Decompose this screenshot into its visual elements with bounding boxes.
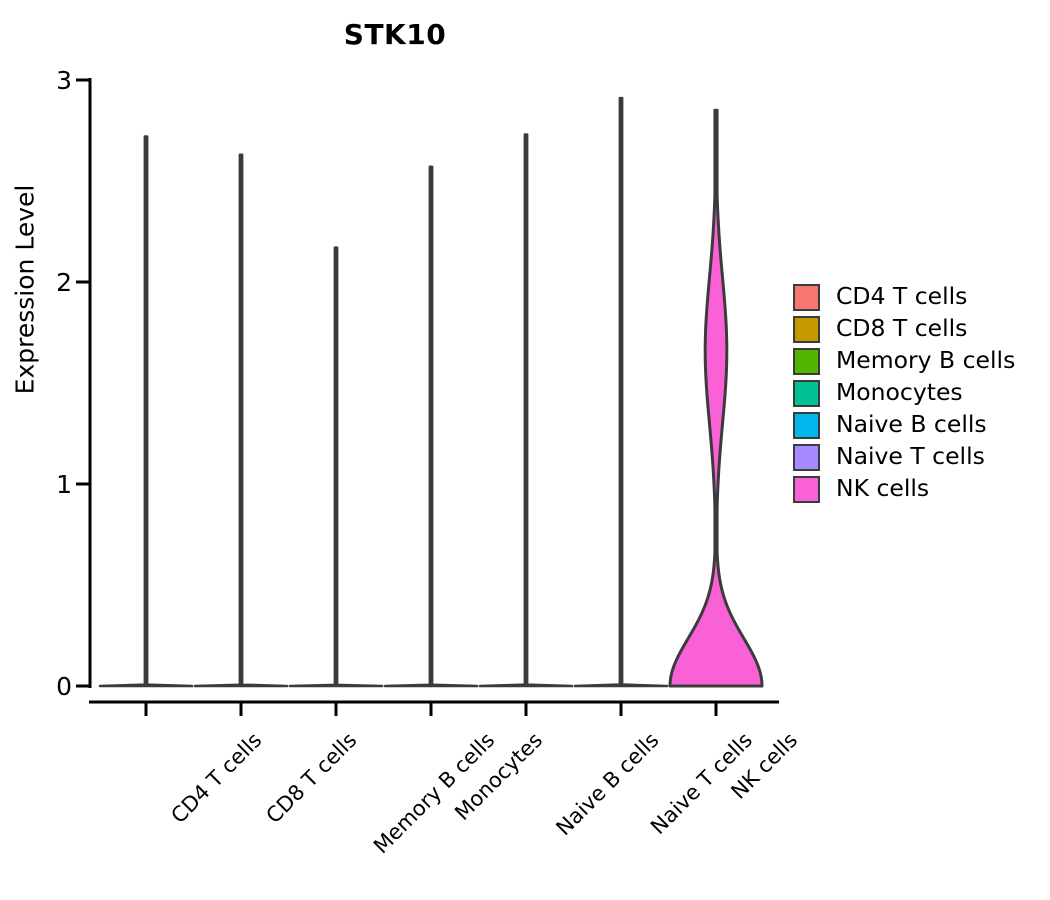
legend-swatch-icon [793, 412, 820, 439]
legend-item-label: Naive T cells [836, 445, 985, 469]
legend-swatch-icon [793, 316, 820, 343]
violin-series-group [100, 98, 762, 686]
legend-item-label: NK cells [836, 477, 929, 501]
violin-naive-t-cells[interactable] [575, 98, 667, 686]
violin-body[interactable] [195, 155, 287, 686]
legend-item-naive-t-cells[interactable]: Naive T cells [793, 441, 1015, 473]
violin-body[interactable] [670, 110, 762, 686]
violin-body[interactable] [290, 248, 382, 686]
legend-item-label: Monocytes [836, 381, 963, 405]
violin-cd8-t-cells[interactable] [195, 155, 287, 686]
axis-group [76, 78, 779, 716]
violin-naive-b-cells[interactable] [480, 135, 572, 686]
legend-item-cd8-t-cells[interactable]: CD8 T cells [793, 313, 1015, 345]
legend-swatch-icon [793, 444, 820, 471]
violin-cd4-t-cells[interactable] [100, 137, 192, 686]
violin-monocytes[interactable] [385, 167, 477, 686]
legend: CD4 T cells CD8 T cells Memory B cells M… [793, 281, 1015, 505]
violin-body[interactable] [385, 167, 477, 686]
violin-nk-cells[interactable] [670, 110, 762, 686]
legend-swatch-icon [793, 284, 820, 311]
violin-plot-figure: STK10 Expression Level 3 2 1 0 CD4 T cel… [0, 0, 1050, 900]
violin-body[interactable] [480, 135, 572, 686]
legend-item-cd4-t-cells[interactable]: CD4 T cells [793, 281, 1015, 313]
legend-item-naive-b-cells[interactable]: Naive B cells [793, 409, 1015, 441]
legend-item-label: Memory B cells [836, 349, 1015, 373]
x-tick-marks [146, 702, 716, 716]
legend-swatch-icon [793, 476, 820, 503]
legend-swatch-icon [793, 380, 820, 407]
violin-body[interactable] [575, 98, 667, 686]
legend-item-label: CD4 T cells [836, 285, 967, 309]
legend-swatch-icon [793, 348, 820, 375]
legend-item-nk-cells[interactable]: NK cells [793, 473, 1015, 505]
y-tick-marks [76, 80, 90, 686]
legend-item-monocytes[interactable]: Monocytes [793, 377, 1015, 409]
legend-item-label: CD8 T cells [836, 317, 967, 341]
legend-item-memory-b-cells[interactable]: Memory B cells [793, 345, 1015, 377]
legend-item-label: Naive B cells [836, 413, 987, 437]
violin-memory-b-cells[interactable] [290, 248, 382, 686]
violin-body[interactable] [100, 137, 192, 686]
